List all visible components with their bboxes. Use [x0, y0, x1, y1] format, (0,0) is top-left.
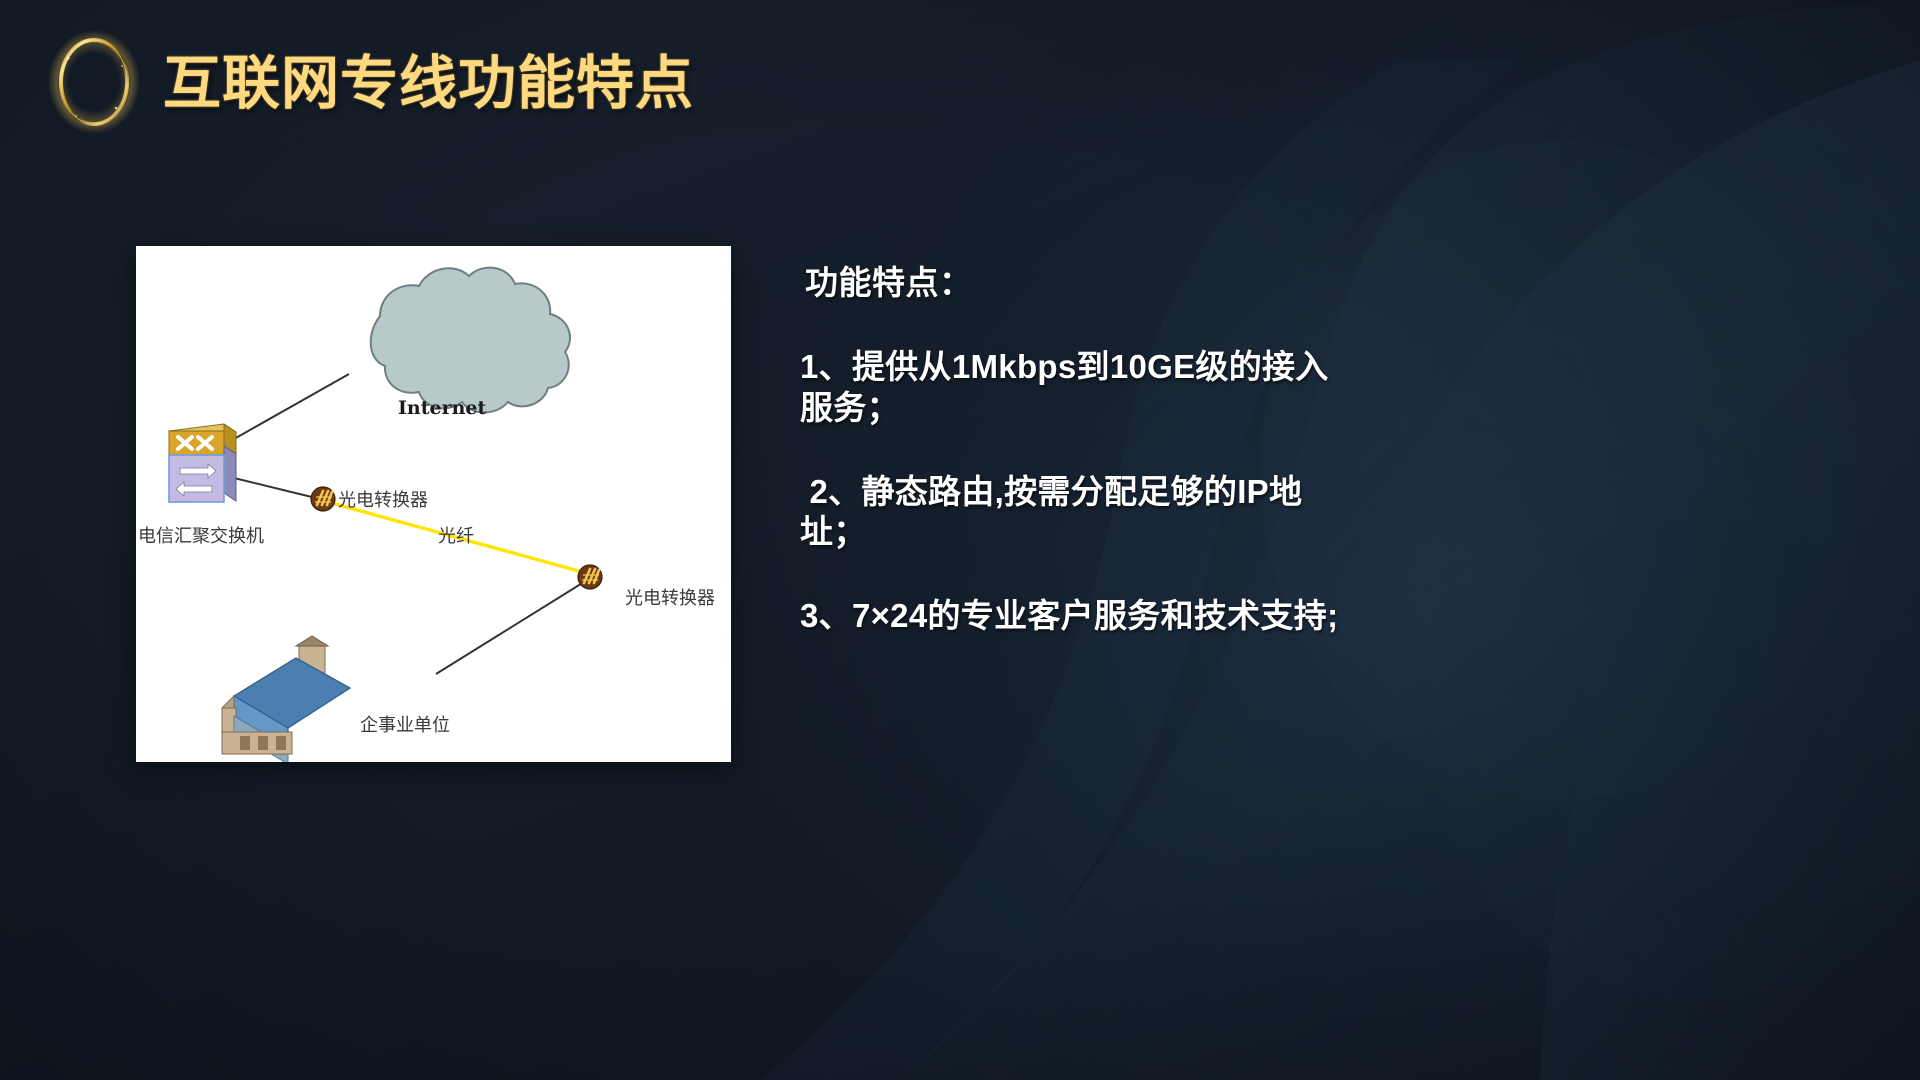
- network-diagram-image: Internet 电信汇聚交换机 光电转换器: [136, 246, 731, 762]
- label-telecom-switch: 电信汇聚交换机: [138, 526, 264, 547]
- page-title: 互联网专线功能特点: [163, 36, 694, 120]
- feature-item-1: 1、提供从1Mkbps到10GE级的接入服务；: [800, 347, 1360, 428]
- slide-header: 互联网专线功能特点: [0, 0, 1920, 160]
- optical-converter-lower-icon: [578, 565, 602, 589]
- features-heading: 功能特点：: [805, 262, 1360, 303]
- enterprise-building-icon: [222, 636, 350, 762]
- label-fiber: 光纤: [438, 526, 474, 547]
- slide-root: 互联网专线功能特点 Internet: [0, 0, 1920, 1080]
- feature-item-3: 3、7×24的专业客户服务和技术支持;: [800, 596, 1360, 636]
- link-switch-to-internet: [234, 374, 349, 439]
- label-enterprise: 企事业单位: [360, 715, 450, 736]
- label-optical-converter-upper: 光电转换器: [338, 490, 428, 511]
- glowing-ring-icon: [46, 28, 142, 136]
- link-converter-lower-to-building: [436, 582, 584, 674]
- telecom-switch-icon: [169, 424, 236, 502]
- link-switch-to-converter-upper: [234, 478, 320, 499]
- internet-cloud-icon: [371, 268, 570, 413]
- network-diagram-svg: Internet 电信汇聚交换机 光电转换器: [136, 246, 731, 762]
- label-optical-converter-lower: 光电转换器: [625, 588, 715, 609]
- label-internet: Internet: [398, 397, 486, 419]
- features-text-block: 功能特点： 1、提供从1Mkbps到10GE级的接入服务； 2、静态路由,按需分…: [800, 262, 1360, 637]
- feature-item-2: 2、静态路由,按需分配足够的IP地址；: [800, 472, 1360, 553]
- optical-converter-upper-icon: [311, 487, 335, 511]
